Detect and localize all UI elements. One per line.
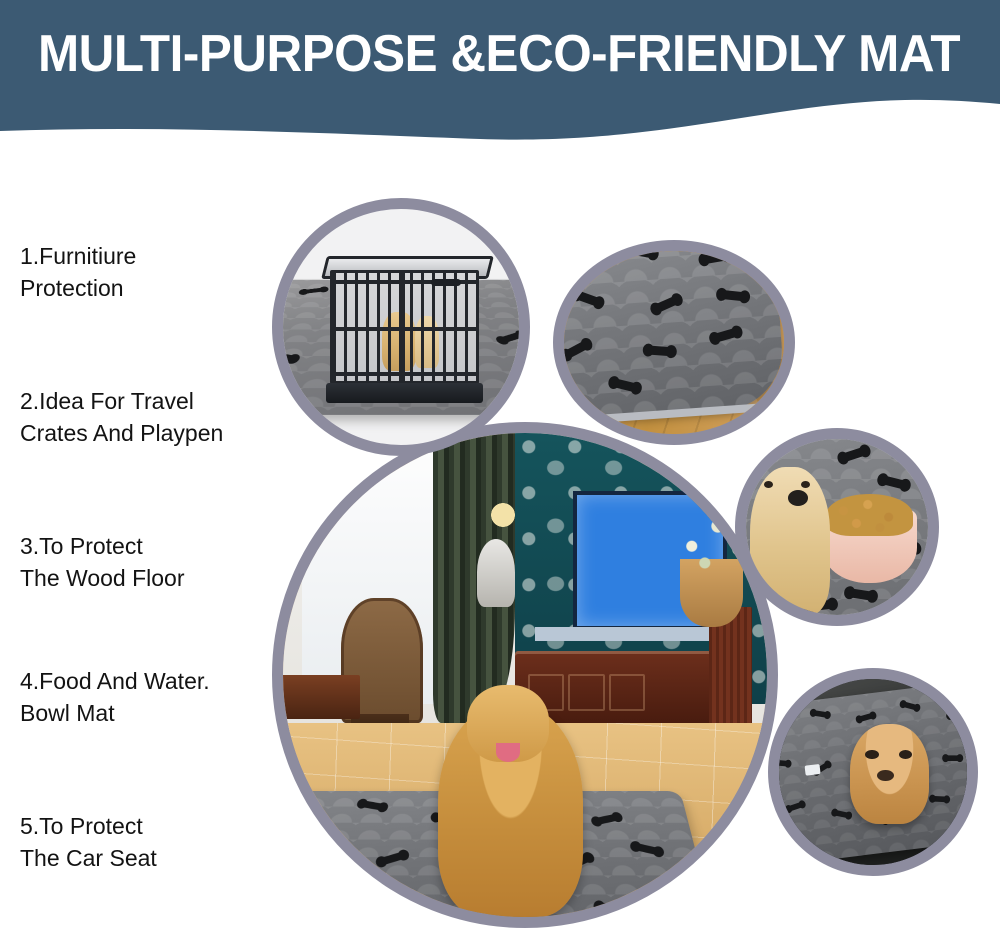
crate-body [330,270,479,383]
puppy-nose [877,770,894,781]
feature-item-3: 3.To Protect The Wood Floor [20,530,290,594]
feature-item-1: 1.Furnitiure Protection [20,240,290,304]
crate-scene [283,209,519,445]
kibble-food [826,494,913,536]
food-bowl-scene [746,439,928,615]
photo-living-room [272,422,778,928]
coffee-table [283,675,360,719]
tv-shelf [535,627,729,642]
crate-handle [431,279,461,286]
bust-sculpture [477,539,516,607]
crate-base-tray [326,383,484,403]
golden-retriever-at-bowl [750,467,830,615]
metal-crate [330,270,479,383]
header-banner: MULTI-PURPOSE &ECO-FRIENDLY MAT [0,0,1000,150]
photo-car-seat [768,668,978,876]
mat-label-tag [805,764,822,775]
feature-item-4: 4.Food And Water. Bowl Mat [20,665,290,729]
photo-dog-crate [272,198,530,456]
feature-item-2: 2.Idea For Travel Crates And Playpen [20,385,290,449]
page-title: MULTI-PURPOSE &ECO-FRIENDLY MAT [38,24,931,84]
feature-item-5: 5.To Protect The Car Seat [20,810,290,874]
wall-lamp [486,491,520,539]
mat-corner-scene [564,251,784,434]
infographic-page: MULTI-PURPOSE &ECO-FRIENDLY MAT 1.Furnit… [0,0,1000,946]
dog-nose [788,490,808,506]
living-room-scene [283,433,767,917]
car-seat-scene [779,679,967,865]
photo-food-bowl [735,428,939,626]
mat-closeup [564,251,784,425]
photo-mat-corner [553,240,795,445]
